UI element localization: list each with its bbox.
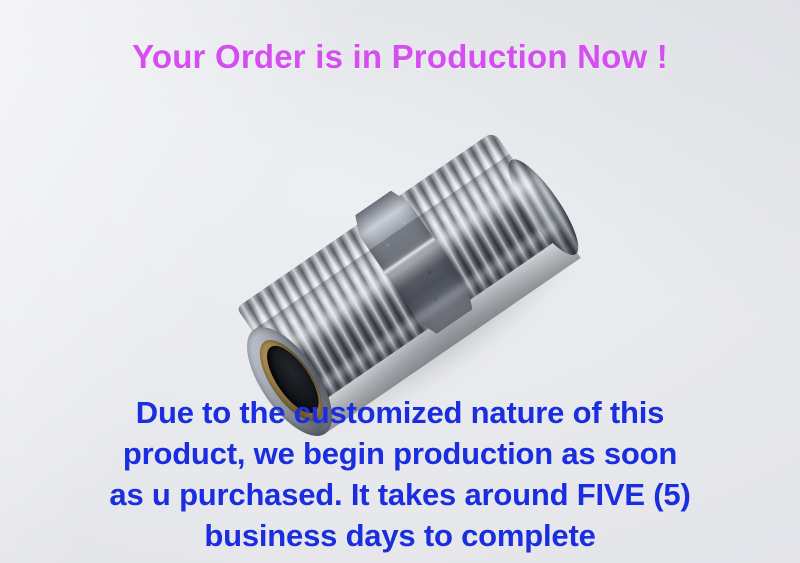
notice-line-2: product, we begin production as soon [0,433,800,474]
page-title: Your Order is in Production Now ! [0,38,800,76]
production-notice: Due to the customized nature of this pro… [0,392,800,556]
notice-line-1: Due to the customized nature of this [0,392,800,433]
notice-line-3: as u purchased. It takes around FIVE (5) [0,474,800,515]
promo-banner: Your Order is in Production Now ! Due to… [0,0,800,563]
notice-line-4: business days to complete [0,515,800,556]
